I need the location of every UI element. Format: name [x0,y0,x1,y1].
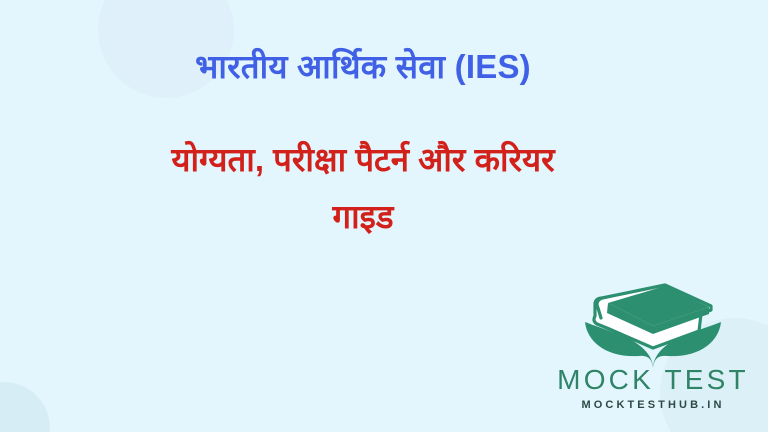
logo-wordmark: MOCK TEST [546,366,760,394]
banner-subtitle-line-1: योग्यता, परीक्षा पैटर्न और करियर [8,132,718,189]
mocktesthub-logo: MOCK TEST MOCKTESTHUB.IN [546,276,760,424]
banner-subtitle: योग्यता, परीक्षा पैटर्न और करियर गाइड [8,86,718,246]
promo-banner: भारतीय आर्थिक सेवा (IES) योग्यता, परीक्ष… [0,0,768,432]
banner-title: भारतीय आर्थिक सेवा (IES) [8,0,718,86]
book-with-leaves-icon [579,276,727,368]
logo-tagline: MOCKTESTHUB.IN [546,400,760,411]
decorative-circle-bottom-left [0,382,50,432]
headline-block: भारतीय आर्थिक सेवा (IES) योग्यता, परीक्ष… [0,0,718,245]
banner-subtitle-line-2: गाइड [8,189,718,246]
